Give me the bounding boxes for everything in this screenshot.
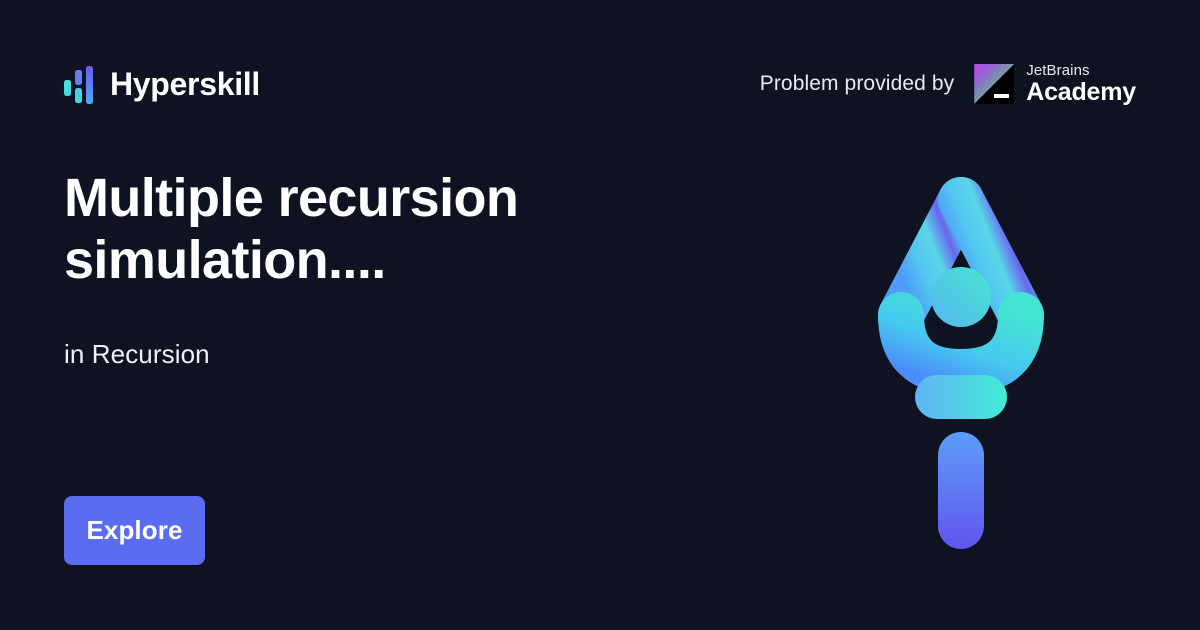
main-content: Multiple recursion simulation.... in Rec… (64, 168, 704, 370)
hyperskill-bars-icon (64, 64, 94, 104)
topic-subtitle: in Recursion (64, 339, 704, 370)
jetbrains-line1: JetBrains (1026, 63, 1136, 78)
torch-center-circle (931, 267, 991, 327)
torch-handle-bar (938, 432, 984, 549)
hyperskill-wordmark: Hyperskill (110, 68, 260, 100)
hyperskill-brand[interactable]: Hyperskill (64, 62, 260, 106)
jetbrains-wordmark: JetBrains Academy (1026, 63, 1136, 105)
og-card: Hyperskill Problem provided by JetBrains… (0, 0, 1200, 630)
provider-block: Problem provided by JetBrains Academy (760, 63, 1136, 105)
header: Hyperskill Problem provided by JetBrains… (0, 0, 1200, 168)
logo-bar-middle-top (75, 70, 82, 85)
logo-bar-middle-bottom (75, 88, 82, 103)
jetbrains-underscore-bar (994, 94, 1009, 98)
jetbrains-square-icon (974, 64, 1014, 104)
jetbrains-line2: Academy (1026, 80, 1136, 105)
torch-triangle (901, 200, 1021, 372)
torch-handle-pill (915, 375, 1007, 419)
explore-button[interactable]: Explore (64, 496, 205, 565)
logo-bar-right (86, 66, 93, 104)
provider-label: Problem provided by (760, 72, 955, 96)
logo-bar-left (64, 80, 71, 96)
jetbrains-academy-logo[interactable]: JetBrains Academy (974, 63, 1136, 105)
jetbrains-gradient-triangle (974, 64, 1014, 104)
page-title: Multiple recursion simulation.... (64, 168, 624, 291)
